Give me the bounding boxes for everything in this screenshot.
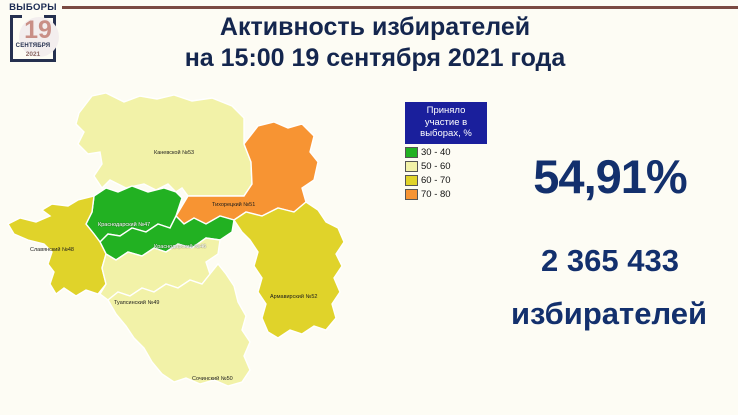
legend-swatch-30-40 bbox=[405, 147, 418, 158]
legend-label-50-60: 50 - 60 bbox=[421, 161, 451, 172]
map-label-slavyanskiy-48: Славянский №48 bbox=[30, 247, 74, 254]
slide-canvas: ВЫБОРЫ 19 СЕНТЯБРЯ 2021 Активность избир… bbox=[0, 0, 738, 415]
legend-swatch-50-60 bbox=[405, 161, 418, 172]
legend-item-60-70: 60 - 70 bbox=[405, 174, 487, 187]
legend-label-30-40: 30 - 40 bbox=[421, 147, 451, 158]
elections-logo: ВЫБОРЫ 19 СЕНТЯБРЯ 2021 bbox=[4, 2, 62, 64]
district-shape-slavyanskiy-48[interactable] bbox=[8, 196, 106, 296]
krasnodar-krai-choropleth-map: Каневской №53 Тихорецкий №51 Краснодарск… bbox=[6, 88, 356, 410]
map-label-krasnodarskiy-46: Краснодарский №46 bbox=[154, 244, 206, 251]
legend-title: Приняло участие в выборах, % bbox=[405, 102, 487, 144]
legend-label-70-80: 70 - 80 bbox=[421, 189, 451, 200]
legend-swatch-70-80 bbox=[405, 189, 418, 200]
map-label-sochinskiy-50: Сочинский №50 bbox=[192, 376, 233, 383]
map-label-tihoretskiy-51: Тихорецкий №51 bbox=[212, 202, 255, 209]
page-title: Активность избирателей на 15:00 19 сентя… bbox=[140, 12, 610, 74]
logo-date-badge: 19 СЕНТЯБРЯ 2021 bbox=[10, 15, 56, 62]
district-shape-kanevskoy-53[interactable] bbox=[76, 93, 252, 196]
logo-day-number: 19 bbox=[18, 16, 58, 44]
legend-item-30-40: 30 - 40 bbox=[405, 146, 487, 159]
logo-year-label: 2021 bbox=[12, 50, 54, 59]
logo-word-vybory: ВЫБОРЫ bbox=[4, 2, 62, 13]
voters-count-label: избирателей bbox=[480, 296, 738, 332]
header-divider-rule bbox=[62, 6, 738, 9]
legend-swatch-60-70 bbox=[405, 175, 418, 186]
map-label-kanevskoy-53: Каневской №53 bbox=[154, 150, 194, 157]
map-label-krasnodarskiy-47: Краснодарский №47 bbox=[98, 222, 150, 229]
turnout-percent-value: 54,91% bbox=[490, 152, 730, 202]
map-legend: Приняло участие в выборах, % 30 - 40 50 … bbox=[405, 102, 487, 202]
page-title-line-1: Активность избирателей bbox=[220, 13, 530, 41]
legend-item-50-60: 50 - 60 bbox=[405, 160, 487, 173]
voters-count-value: 2 365 433 bbox=[490, 243, 730, 279]
legend-label-60-70: 60 - 70 bbox=[421, 175, 451, 186]
legend-items: 30 - 40 50 - 60 60 - 70 70 - 80 bbox=[405, 144, 487, 201]
map-label-tuapsinskiy-49: Туапсинский №49 bbox=[114, 300, 159, 307]
legend-item-70-80: 70 - 80 bbox=[405, 188, 487, 201]
page-title-line-2: на 15:00 19 сентября 2021 года bbox=[140, 43, 610, 74]
district-shape-armavirskiy-52[interactable] bbox=[234, 202, 344, 338]
map-label-armavirskiy-52: Армавирский №52 bbox=[270, 294, 317, 301]
